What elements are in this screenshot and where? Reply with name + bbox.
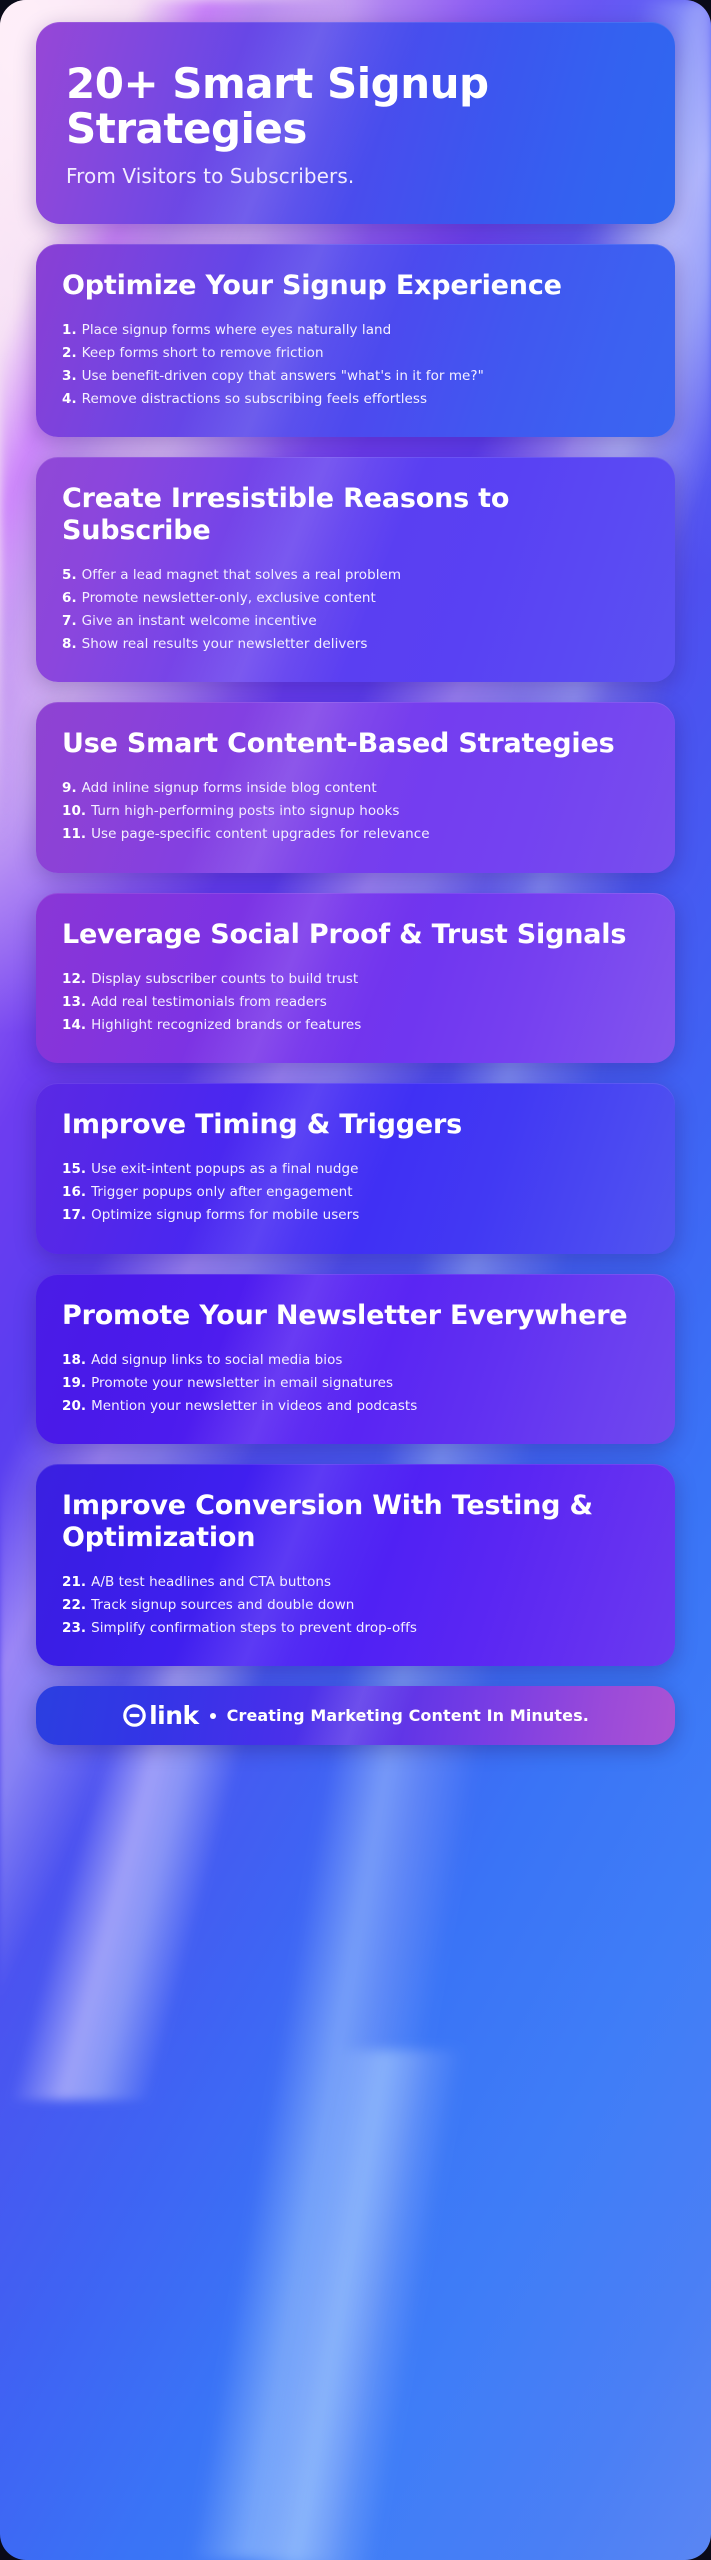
- list-item: 14.Highlight recognized brands or featur…: [62, 1014, 649, 1037]
- item-number: 6.: [62, 589, 77, 609]
- item-number: 8.: [62, 635, 77, 655]
- list-item: 21.A/B test headlines and CTA buttons: [62, 1571, 649, 1594]
- section-title: Create Irresistible Reasons to Subscribe: [62, 483, 649, 546]
- list-item: 1.Place signup forms where eyes naturall…: [62, 319, 649, 342]
- list-item: 9.Add inline signup forms inside blog co…: [62, 778, 649, 801]
- strategy-list: 21.A/B test headlines and CTA buttons 22…: [62, 1571, 649, 1640]
- list-item: 20.Mention your newsletter in videos and…: [62, 1395, 649, 1418]
- section-title: Improve Conversion With Testing & Optimi…: [62, 1490, 649, 1553]
- list-item: 17.Optimize signup forms for mobile user…: [62, 1205, 649, 1228]
- card-stack: 20+ Smart Signup Strategies From Visitor…: [0, 0, 711, 1666]
- item-text: Place signup forms where eyes naturally …: [82, 321, 392, 341]
- item-number: 5.: [62, 566, 77, 586]
- section-card-improve-timing-triggers: Improve Timing & Triggers 15.Use exit-in…: [36, 1083, 675, 1253]
- section-card-improve-conversion-testing: Improve Conversion With Testing & Optimi…: [36, 1464, 675, 1666]
- item-number: 3.: [62, 367, 77, 387]
- item-number: 12.: [62, 970, 86, 990]
- item-text: Remove distractions so subscribing feels…: [82, 390, 427, 410]
- item-number: 21.: [62, 1573, 86, 1593]
- section-title: Optimize Your Signup Experience: [62, 270, 649, 302]
- item-number: 14.: [62, 1016, 86, 1036]
- list-item: 5.Offer a lead magnet that solves a real…: [62, 564, 649, 587]
- item-text: Promote your newsletter in email signatu…: [91, 1374, 393, 1394]
- item-number: 4.: [62, 390, 77, 410]
- section-card-promote-newsletter-everywhere: Promote Your Newsletter Everywhere 18.Ad…: [36, 1274, 675, 1444]
- item-text: Track signup sources and double down: [91, 1596, 354, 1616]
- item-text: Simplify confirmation steps to prevent d…: [91, 1619, 417, 1639]
- item-number: 19.: [62, 1374, 86, 1394]
- item-number: 1.: [62, 321, 77, 341]
- item-number: 16.: [62, 1183, 86, 1203]
- strategy-list: 1.Place signup forms where eyes naturall…: [62, 319, 649, 411]
- item-text: Show real results your newsletter delive…: [82, 635, 368, 655]
- list-item: 11.Use page-specific content upgrades fo…: [62, 824, 649, 847]
- hero-card: 20+ Smart Signup Strategies From Visitor…: [36, 22, 675, 224]
- item-text: Mention your newsletter in videos and po…: [91, 1397, 417, 1417]
- list-item: 12.Display subscriber counts to build tr…: [62, 968, 649, 991]
- section-card-leverage-social-proof: Leverage Social Proof & Trust Signals 12…: [36, 893, 675, 1063]
- item-text: A/B test headlines and CTA buttons: [91, 1573, 331, 1593]
- page-title: 20+ Smart Signup Strategies: [66, 62, 645, 152]
- list-item: 16.Trigger popups only after engagement: [62, 1182, 649, 1205]
- list-item: 23.Simplify confirmation steps to preven…: [62, 1617, 649, 1640]
- footer-bar: link Creating Marketing Content In Minut…: [36, 1686, 675, 1745]
- item-text: Keep forms short to remove friction: [82, 344, 324, 364]
- background-streak-lower: [0, 2050, 711, 2560]
- item-number: 11.: [62, 825, 86, 845]
- item-text: Give an instant welcome incentive: [82, 612, 317, 632]
- elink-e-icon: [122, 1703, 147, 1728]
- list-item: 22.Track signup sources and double down: [62, 1594, 649, 1617]
- list-item: 7.Give an instant welcome incentive: [62, 610, 649, 633]
- list-item: 4.Remove distractions so subscribing fee…: [62, 388, 649, 411]
- section-title: Leverage Social Proof & Trust Signals: [62, 919, 649, 951]
- section-card-optimize-signup-experience: Optimize Your Signup Experience 1.Place …: [36, 244, 675, 437]
- list-item: 3.Use benefit-driven copy that answers "…: [62, 365, 649, 388]
- section-title: Use Smart Content-Based Strategies: [62, 728, 649, 760]
- item-text: Optimize signup forms for mobile users: [91, 1206, 359, 1226]
- item-text: Display subscriber counts to build trust: [91, 970, 358, 990]
- section-card-create-irresistible-reasons: Create Irresistible Reasons to Subscribe…: [36, 457, 675, 682]
- strategy-list: 9.Add inline signup forms inside blog co…: [62, 778, 649, 847]
- item-number: 20.: [62, 1397, 86, 1417]
- item-text: Trigger popups only after engagement: [91, 1183, 352, 1203]
- item-number: 22.: [62, 1596, 86, 1616]
- item-text: Add inline signup forms inside blog cont…: [82, 779, 377, 799]
- item-number: 13.: [62, 993, 86, 1013]
- item-number: 15.: [62, 1160, 86, 1180]
- list-item: 19.Promote your newsletter in email sign…: [62, 1372, 649, 1395]
- item-number: 10.: [62, 802, 86, 822]
- page-subtitle: From Visitors to Subscribers.: [66, 164, 645, 188]
- item-text: Promote newsletter-only, exclusive conte…: [82, 589, 376, 609]
- list-item: 2.Keep forms short to remove friction: [62, 342, 649, 365]
- item-text: Add signup links to social media bios: [91, 1351, 342, 1371]
- item-number: 23.: [62, 1619, 86, 1639]
- strategy-list: 18.Add signup links to social media bios…: [62, 1349, 649, 1418]
- list-item: 13.Add real testimonials from readers: [62, 991, 649, 1014]
- item-text: Use exit-intent popups as a final nudge: [91, 1160, 358, 1180]
- item-text: Highlight recognized brands or features: [91, 1016, 361, 1036]
- item-number: 9.: [62, 779, 77, 799]
- section-card-smart-content-based-strategies: Use Smart Content-Based Strategies 9.Add…: [36, 702, 675, 872]
- list-item: 10.Turn high-performing posts into signu…: [62, 801, 649, 824]
- elink-logo[interactable]: link: [122, 1703, 199, 1728]
- item-number: 7.: [62, 612, 77, 632]
- infographic-page: 20+ Smart Signup Strategies From Visitor…: [0, 0, 711, 2560]
- footer-tagline: Creating Marketing Content In Minutes.: [227, 1706, 589, 1725]
- item-text: Use benefit-driven copy that answers "wh…: [82, 367, 484, 387]
- list-item: 8.Show real results your newsletter deli…: [62, 633, 649, 656]
- item-number: 2.: [62, 344, 77, 364]
- bullet-dot-icon: [210, 1713, 216, 1719]
- strategy-list: 5.Offer a lead magnet that solves a real…: [62, 564, 649, 656]
- item-number: 18.: [62, 1351, 86, 1371]
- item-number: 17.: [62, 1206, 86, 1226]
- list-item: 6.Promote newsletter-only, exclusive con…: [62, 587, 649, 610]
- list-item: 15.Use exit-intent popups as a final nud…: [62, 1159, 649, 1182]
- item-text: Add real testimonials from readers: [91, 993, 327, 1013]
- strategy-list: 12.Display subscriber counts to build tr…: [62, 968, 649, 1037]
- elink-wordmark: link: [149, 1703, 199, 1728]
- item-text: Turn high-performing posts into signup h…: [91, 802, 399, 822]
- list-item: 18.Add signup links to social media bios: [62, 1349, 649, 1372]
- item-text: Use page-specific content upgrades for r…: [91, 825, 430, 845]
- strategy-list: 15.Use exit-intent popups as a final nud…: [62, 1159, 649, 1228]
- section-title: Improve Timing & Triggers: [62, 1109, 649, 1141]
- section-title: Promote Your Newsletter Everywhere: [62, 1300, 649, 1332]
- item-text: Offer a lead magnet that solves a real p…: [82, 566, 401, 586]
